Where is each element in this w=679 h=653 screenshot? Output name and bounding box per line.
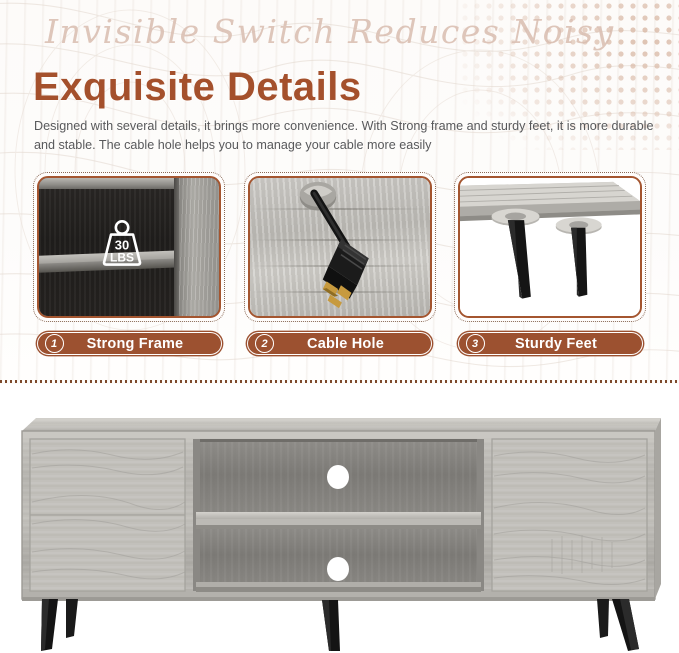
feature-photo-cable-hole bbox=[248, 176, 432, 318]
feature-number-badge: 3 bbox=[466, 334, 485, 353]
weight-unit-text: LBS bbox=[110, 251, 134, 265]
feature-photo-frame bbox=[244, 172, 436, 322]
feature-label-text: Sturdy Feet bbox=[485, 336, 642, 352]
shelf-interior-image: 30 LBS bbox=[39, 178, 219, 316]
feature-number-badge: 2 bbox=[255, 334, 274, 353]
feature-label-pill-3: 3 Sturdy Feet bbox=[458, 332, 643, 355]
feature-photo-frame: 30 LBS bbox=[33, 172, 225, 322]
feature-number-badge: 1 bbox=[45, 334, 64, 353]
product-photo-section bbox=[0, 384, 679, 653]
feature-label-pill-1: 1 Strong Frame bbox=[37, 332, 222, 355]
cable-hole-upper bbox=[327, 465, 349, 489]
cabinet-underside-legs-illustration bbox=[460, 178, 640, 318]
feature-box-row: 30 LBS 1 Strong Frame bbox=[0, 172, 679, 355]
feature-photo-sturdy-feet bbox=[458, 176, 642, 318]
cable-hole-image bbox=[250, 178, 430, 316]
tv-stand-product-image bbox=[0, 384, 679, 653]
feature-label-text: Strong Frame bbox=[64, 336, 221, 352]
feature-card-cable-hole: 2 Cable Hole bbox=[244, 172, 436, 355]
power-plug-illustration bbox=[250, 178, 430, 318]
section-divider bbox=[0, 380, 679, 383]
tv-stand-legs bbox=[41, 599, 639, 651]
sturdy-feet-image bbox=[460, 178, 640, 316]
feature-label-pill-2: 2 Cable Hole bbox=[247, 332, 432, 355]
cable-hole-lower bbox=[327, 557, 349, 581]
feature-photo-strong-frame: 30 LBS bbox=[37, 176, 221, 318]
intro-paragraph: Designed with several details, it brings… bbox=[34, 117, 659, 155]
feature-photo-frame bbox=[454, 172, 646, 322]
feature-card-sturdy-feet: 3 Sturdy Feet bbox=[454, 172, 646, 355]
decorative-script-title: Invisible Switch Reduces Noisy bbox=[45, 12, 615, 51]
header-section: Invisible Switch Reduces Noisy Exquisite… bbox=[0, 0, 679, 380]
feature-card-strong-frame: 30 LBS 1 Strong Frame bbox=[33, 172, 225, 355]
product-detail-page: Invisible Switch Reduces Noisy Exquisite… bbox=[0, 0, 679, 653]
weight-capacity-icon: 30 LBS bbox=[93, 215, 151, 273]
page-title: Exquisite Details bbox=[33, 65, 362, 110]
feature-label-text: Cable Hole bbox=[274, 336, 431, 352]
